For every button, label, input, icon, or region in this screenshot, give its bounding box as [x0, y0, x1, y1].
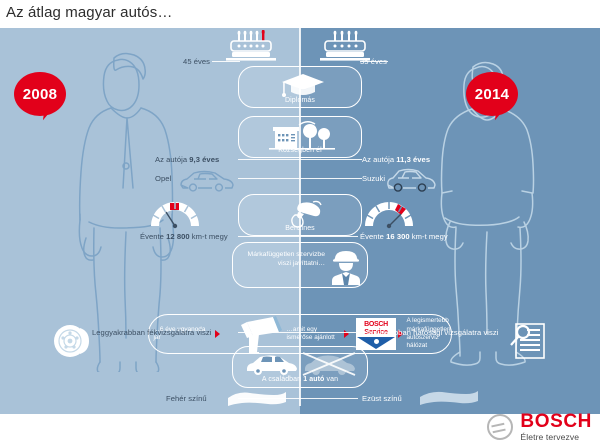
lead-line-brand-left [238, 178, 300, 179]
car-age-prefix-left: Az autója [155, 155, 189, 164]
red-triangle-arrow-icon-1 [215, 330, 220, 338]
speedometer-gauge-icon-right [362, 200, 416, 232]
sedan-car-icon-left [178, 168, 236, 192]
document-magnifier-icon [510, 322, 548, 362]
bosch-service-brand: BOSCH [357, 321, 395, 328]
lead-line-carage-right [300, 159, 362, 160]
car-brand-label-left: Opel [155, 174, 171, 183]
inspection-label-left: Leggyakrabban fékvizsgálatra viszi [92, 328, 211, 337]
car-colour-label-left: Fehér színű [166, 394, 207, 403]
lead-line-age-left [212, 61, 240, 62]
mileage-suffix-left: km-t megy [190, 232, 228, 241]
bosch-anchor-logo-icon [487, 414, 513, 440]
lead-line-colour-right [300, 398, 358, 399]
birthday-cake-icon-left [226, 30, 276, 64]
age-label-right: 35 éves [360, 57, 387, 66]
lead-line-inspection-left [238, 332, 300, 333]
brake-disc-icon [50, 320, 92, 362]
household-cars-prefix: A családban [262, 376, 303, 383]
mileage-suffix-right: km-t megy [410, 232, 448, 241]
year-bubble-2014: 2014 [466, 72, 524, 120]
inspection-label-right: Leggyakrabban hatósági vizsgálatra viszi [358, 328, 498, 337]
household-cars-suffix: van [324, 376, 338, 383]
pill-label-education: Diplomás [239, 97, 361, 104]
mileage-value-right: 16 300 [386, 232, 410, 241]
fuel-pump-nozzle-icon [283, 200, 323, 228]
bosch-brand-name: BOSCH [520, 412, 592, 431]
pill-household-cars: A családban 1 autó van [232, 346, 368, 388]
paint-brush-stroke-icon-right [418, 388, 478, 406]
graduation-cap-icon [281, 73, 325, 99]
pill-fuel: Benzines [238, 194, 362, 236]
pill-independent-service: Márkafüggetlen szervizbe viszi javíttatn… [232, 242, 368, 288]
pill-education: Diplomás [238, 66, 362, 108]
year-bubble-2008: 2008 [14, 72, 72, 120]
infographic-root: Az átlag magyar autós… [0, 0, 600, 440]
car-brand-label-right: Suzuki [362, 174, 385, 183]
car-age-label-right: Az autója 11,3 éves [362, 155, 430, 164]
hatchback-car-icon-right [384, 168, 438, 192]
speedometer-gauge-icon-left [148, 200, 202, 232]
bosch-brand-text: BOSCH Életre tervezve [520, 412, 592, 442]
pill-label-residence: Községben él [239, 147, 361, 154]
age-label-left: 45 éves [178, 57, 210, 66]
year-label-2008: 2008 [14, 72, 66, 116]
bosch-brand-claim: Életre tervezve [520, 433, 592, 442]
mileage-label-right: Évente 16 300 km-t megy [360, 232, 448, 241]
mileage-prefix-left: Évente [140, 232, 166, 241]
lead-line-mileage-left [238, 236, 300, 237]
car-colour-label-right: Ezüst színű [362, 394, 402, 403]
lead-line-brand-right [300, 178, 362, 179]
pill-label-independent-service: Márkafüggetlen szervizbe viszi javíttatn… [241, 250, 325, 269]
bosch-service-dot [374, 339, 379, 344]
car-age-label-left: Az autója 9,3 éves [155, 155, 219, 164]
two-cars-one-crossed-icon [243, 351, 359, 377]
bosch-brand-footer: BOSCH Életre tervezve [487, 412, 592, 442]
paint-brush-stroke-icon-left [226, 388, 286, 406]
household-cars-count: 1 autó [303, 376, 324, 383]
year-label-2014: 2014 [466, 72, 518, 116]
page-title: Az átlag magyar autós… [6, 4, 172, 21]
infographic-canvas: 2008 2014 [0, 28, 600, 406]
mileage-value-left: 12 800 [166, 232, 190, 241]
lead-line-inspection-right [300, 332, 356, 333]
lead-line-carage-left [238, 159, 300, 160]
strip-text-recommendation: …amit egy ismerőse ajánlott [287, 326, 341, 343]
car-age-prefix-right: Az autója [362, 155, 396, 164]
car-age-value-left: 9,3 éves [189, 155, 219, 164]
pill-label-household-cars: A családban 1 autó van [233, 376, 367, 383]
pill-residence: Községben él [238, 116, 362, 158]
lead-line-mileage-right [300, 236, 358, 237]
pill-label-fuel: Benzines [239, 225, 361, 232]
car-age-value-right: 11,3 éves [396, 155, 430, 164]
mechanic-worker-icon [329, 249, 363, 285]
mileage-prefix-right: Évente [360, 232, 386, 241]
mileage-label-left: Évente 12 800 km-t megy [140, 232, 228, 241]
